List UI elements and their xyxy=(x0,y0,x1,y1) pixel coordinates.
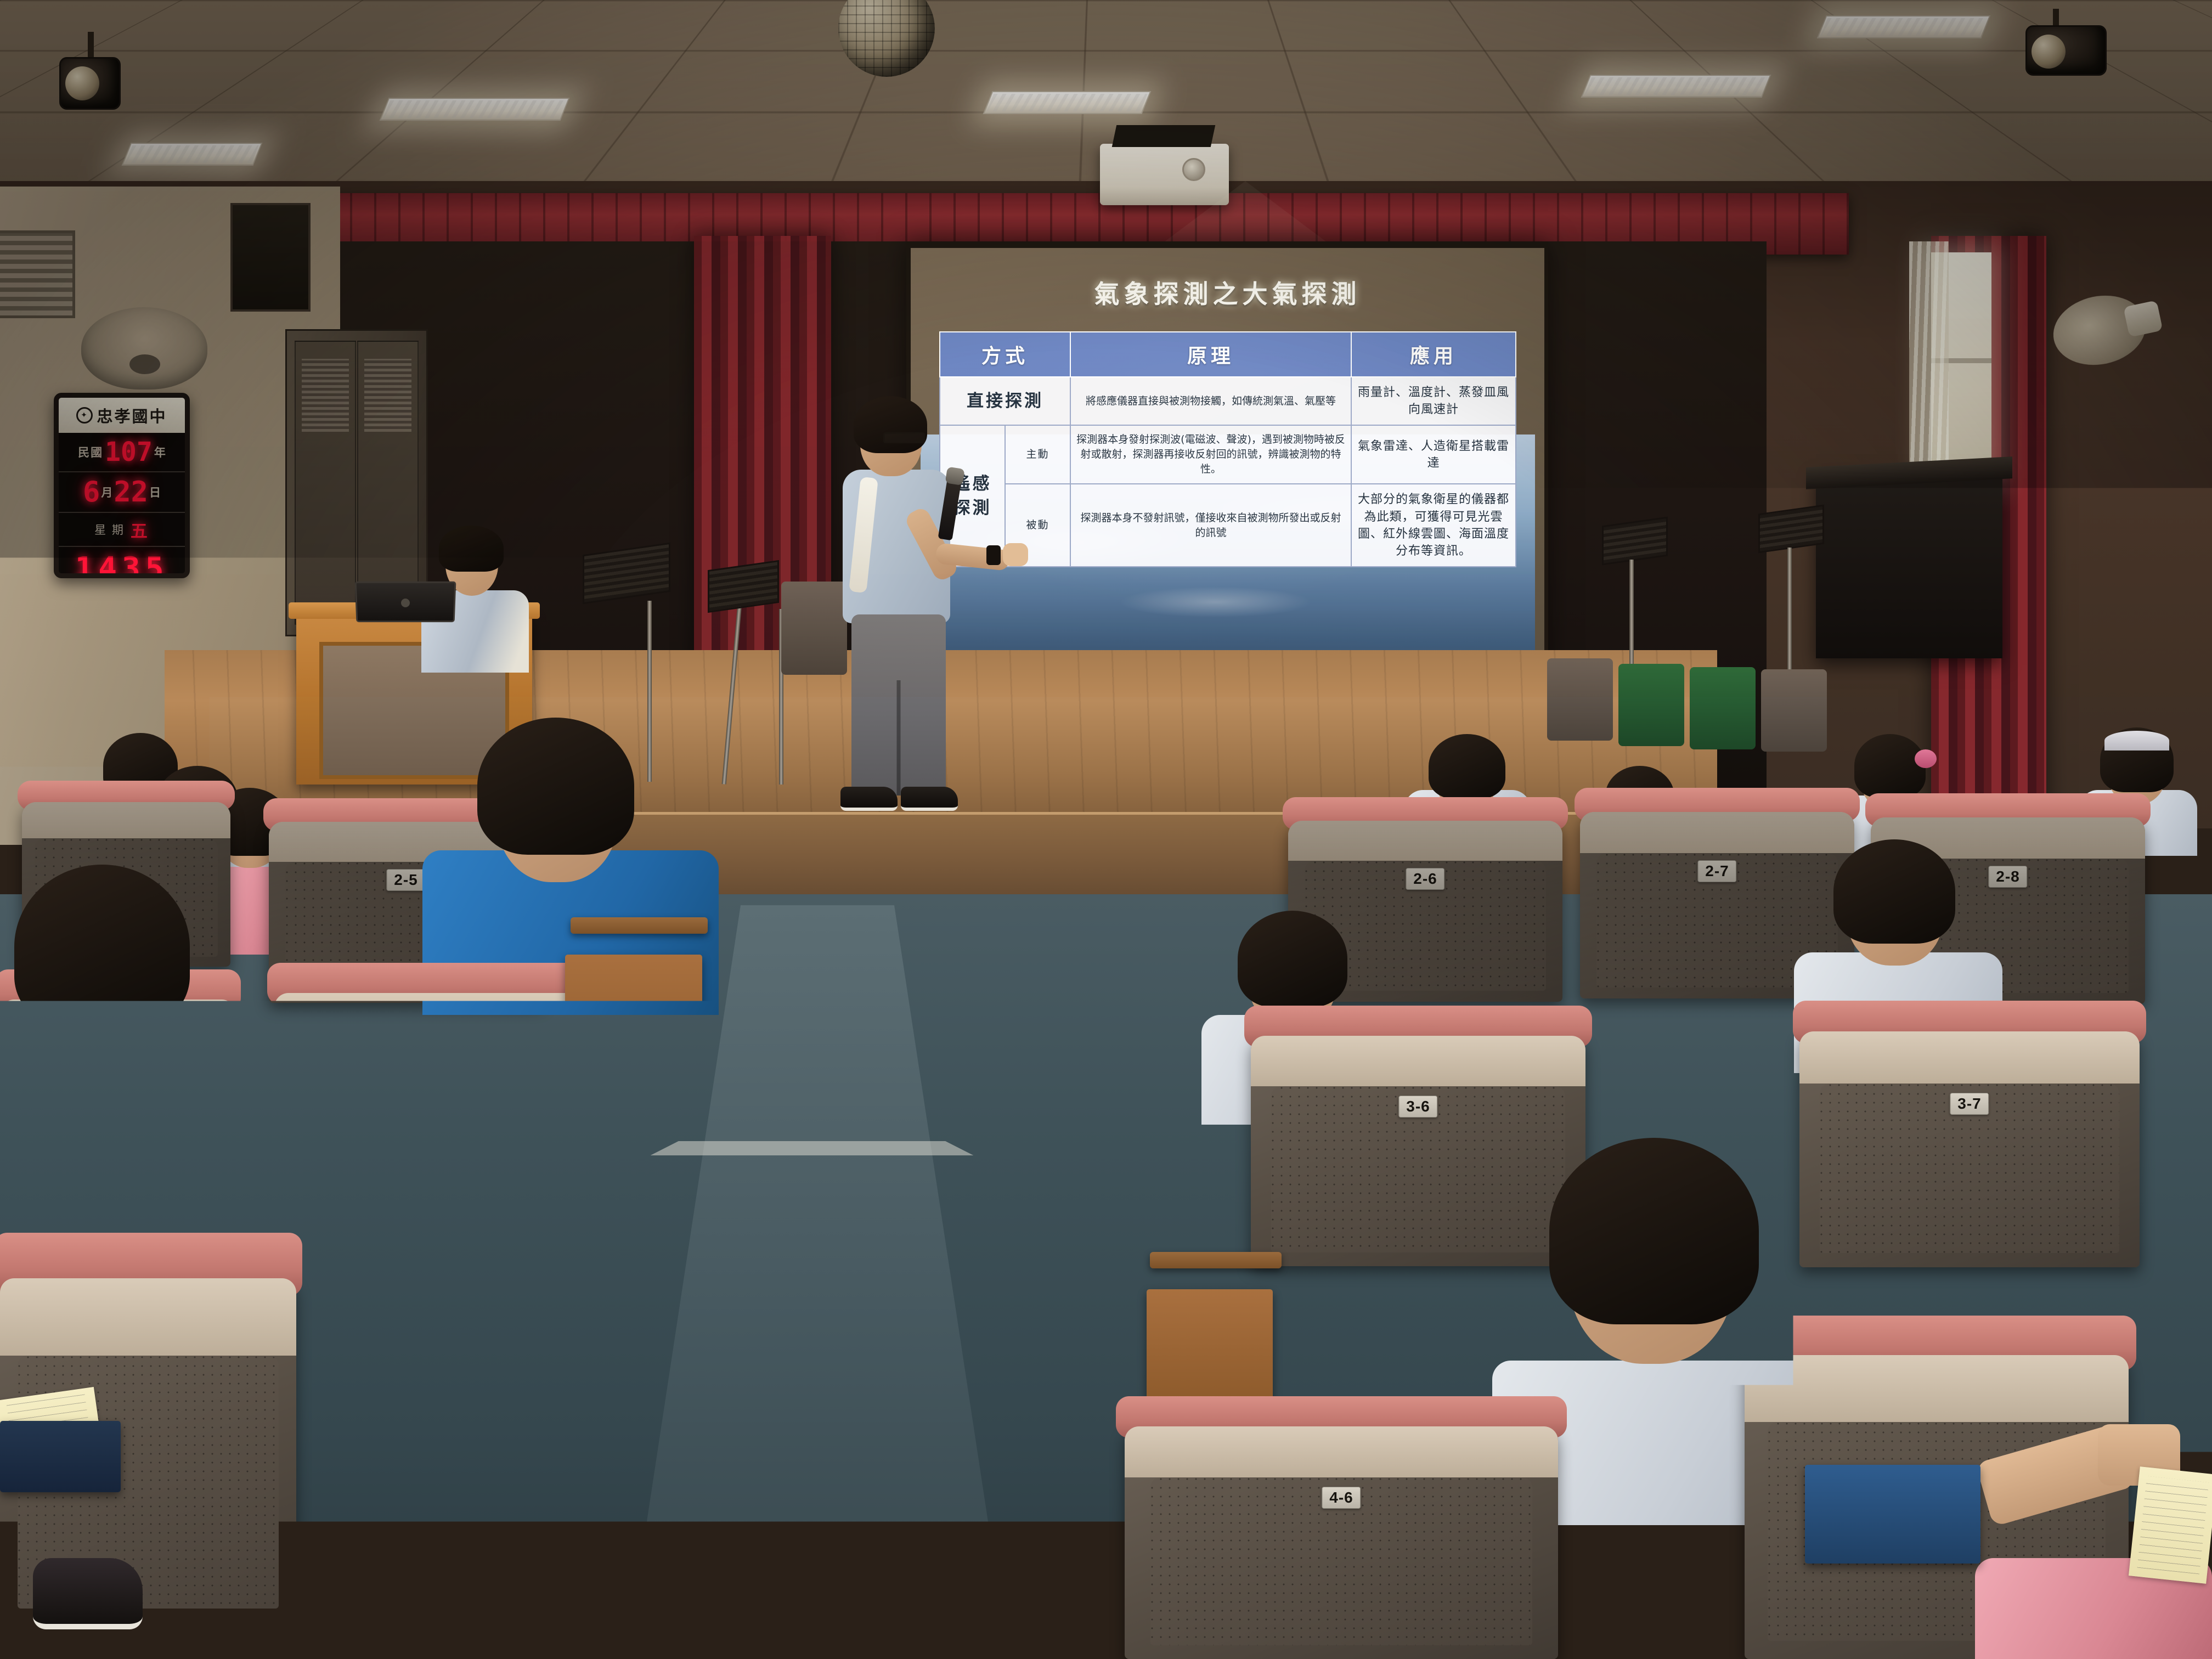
digital-wall-clock: ✦ 忠孝國中 民國 107 年 6 月 22 日 星 期 五 14 35 xyxy=(54,393,190,578)
slide-title: 氣象探測之大氣探測 xyxy=(911,274,1544,311)
projector-lens-icon xyxy=(1182,158,1205,181)
projection-screen: 氣象探測之大氣探測 方式 原理 應用 直接探測 將感應儀器直接與被測物接觸，如傳… xyxy=(911,248,1544,698)
ceiling-light-panel xyxy=(122,143,263,166)
clock-minute-value: 35 xyxy=(122,551,168,579)
slide-col-header-method: 方式 xyxy=(940,332,1070,377)
slide-cell-submethod: 主動 xyxy=(1005,425,1070,484)
slide-col-header-application: 應用 xyxy=(1351,332,1516,377)
seat-armrest xyxy=(571,917,708,934)
piano xyxy=(1816,472,2002,658)
wall-fan xyxy=(81,307,207,390)
clock-month-value: 6 xyxy=(83,476,100,509)
ceiling-light-panel xyxy=(983,91,1152,114)
slide-cell-principle: 將感應儀器直接與被測物接觸，如傳統測氣溫、氣壓等 xyxy=(1070,377,1351,425)
aisle-marking xyxy=(636,1141,988,1155)
clock-day-value: 22 xyxy=(114,476,148,509)
clock-day-unit: 日 xyxy=(149,484,161,500)
seat-number-tag: 4-6 xyxy=(1322,1487,1361,1509)
clock-year-value: 107 xyxy=(105,437,153,467)
projector xyxy=(1100,144,1229,205)
air-conditioner-vent xyxy=(0,230,75,318)
clock-date-row: 6 月 22 日 xyxy=(59,472,185,513)
seat-number-tag: 3-6 xyxy=(1398,1096,1437,1118)
slide-cell-application: 大部分的氣象衛星的儀器都為此類，可獲得可見光雲圖、紅外線雲圖、海面溫度分布等資訊… xyxy=(1351,484,1516,567)
stage-spotlight xyxy=(59,57,121,110)
seat-number-tag: 2-6 xyxy=(1406,868,1444,890)
writing-tablet[interactable] xyxy=(565,955,702,1092)
writing-tablet[interactable] xyxy=(0,1421,121,1492)
service-bell[interactable] xyxy=(426,1076,465,1109)
student-presenter xyxy=(812,399,993,838)
slide-col-header-principle: 原理 xyxy=(1070,332,1351,377)
stacked-chair xyxy=(1547,658,1613,741)
clock-weekday-value: 五 xyxy=(131,517,149,542)
slide-cell-application: 氣象雷達、人造衛星搭載雷達 xyxy=(1351,425,1516,484)
stacked-chair xyxy=(1761,669,1827,752)
clock-time-row: 14 35 xyxy=(59,547,185,578)
stacked-chair xyxy=(1618,664,1684,746)
slide-table-header-row: 方式 原理 應用 xyxy=(940,332,1516,377)
ceiling-light-panel xyxy=(1581,75,1771,98)
writing-tablet[interactable] xyxy=(1805,1465,1980,1564)
shoe xyxy=(439,1383,532,1443)
slide-table-row: 遙感探測 主動 探測器本身發射探測波(電磁波、聲波)，遇到被測物時被反射或散射，… xyxy=(940,425,1516,484)
slide-cell-application: 雨量計、溫度計、蒸發皿風向風速計 xyxy=(1351,377,1516,425)
presentation-laptop[interactable] xyxy=(355,582,456,622)
clock-weekday-label: 星 期 xyxy=(94,521,125,538)
slide-table-row: 直接探測 將感應儀器直接與被測物接觸，如傳統測氣溫、氣壓等 雨量計、溫度計、蒸發… xyxy=(940,377,1516,425)
hair-tie xyxy=(1915,749,1937,768)
stacked-chair xyxy=(1690,667,1756,749)
hairband xyxy=(2104,731,2169,751)
seat-number-tag: 3-7 xyxy=(1950,1093,1989,1115)
slide-cell-principle: 探測器本身不發射訊號，僅接收來自被測物所發出或反射的訊號 xyxy=(1070,484,1351,567)
presenter-hand xyxy=(1003,543,1028,566)
shoe xyxy=(428,1317,516,1377)
slide-cell-principle: 探測器本身發射探測波(電磁波、聲波)，遇到被測物時被反射或散射，探測器再接收反射… xyxy=(1070,425,1351,484)
stage-spotlight xyxy=(2025,25,2107,76)
audience-seat[interactable]: 4-6 xyxy=(1125,1426,1558,1659)
seat-armrest xyxy=(1150,1252,1282,1268)
clock-school-name: 忠孝國中 xyxy=(97,404,167,427)
shoe xyxy=(33,1558,143,1629)
wristwatch xyxy=(986,545,1001,565)
clock-era-label: 民國 xyxy=(78,444,103,460)
shoe xyxy=(901,787,958,811)
audience-seat[interactable]: 3-7 xyxy=(1799,1031,2140,1267)
eyeglasses-icon xyxy=(883,432,925,443)
ceiling-light-panel xyxy=(1817,15,1991,38)
seat-number-tag: 2-5 xyxy=(386,869,425,891)
clock-year-unit: 年 xyxy=(154,444,166,460)
wall-speaker xyxy=(230,203,311,312)
clock-school-banner: ✦ 忠孝國中 xyxy=(59,398,185,433)
clock-year-row: 民國 107 年 xyxy=(59,433,185,472)
school-crest-icon: ✦ xyxy=(76,407,93,424)
slide-table: 方式 原理 應用 直接探測 將感應儀器直接與被測物接觸，如傳統測氣溫、氣壓等 雨… xyxy=(939,331,1516,567)
clock-month-unit: 月 xyxy=(101,484,112,500)
clock-hour-value: 14 xyxy=(75,551,122,579)
auditorium-scene: 氣象探測之大氣探測 方式 原理 應用 直接探測 將感應儀器直接與被測物接觸，如傳… xyxy=(0,0,2212,1659)
shoe xyxy=(840,787,898,811)
worksheet[interactable] xyxy=(2129,1466,2212,1584)
clock-weekday-row: 星 期 五 xyxy=(59,513,185,547)
ceiling-light-panel xyxy=(380,98,570,121)
seat-number-tag: 2-7 xyxy=(1697,860,1736,882)
